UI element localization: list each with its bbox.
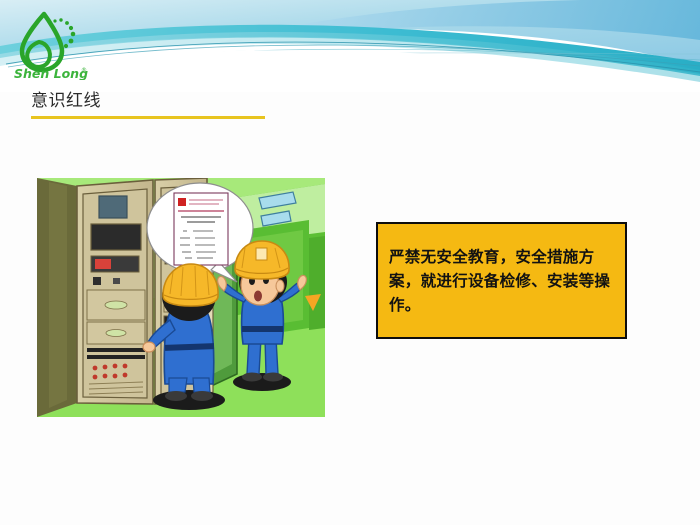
logo-wordmark: Shen Long <box>14 66 88 80</box>
shen-long-droplet-logo: Shen Long ® <box>8 8 104 80</box>
teal-wave-banner <box>0 0 700 92</box>
title-underline <box>31 116 265 119</box>
warning-callout-box: 严禁无安全教育，安全措施方案，就进行设备检修、安装等操作。 <box>376 222 627 339</box>
presentation-slide: Shen Long ® 意识红线 <box>0 0 700 525</box>
page-title-block: 意识红线 <box>31 90 271 119</box>
page-title: 意识红线 <box>31 90 271 112</box>
safety-education-cartoon <box>37 178 325 417</box>
logo-trademark-symbol: ® <box>81 67 87 74</box>
warning-callout-text: 严禁无安全教育，安全措施方案，就进行设备检修、安装等操作。 <box>378 245 625 317</box>
